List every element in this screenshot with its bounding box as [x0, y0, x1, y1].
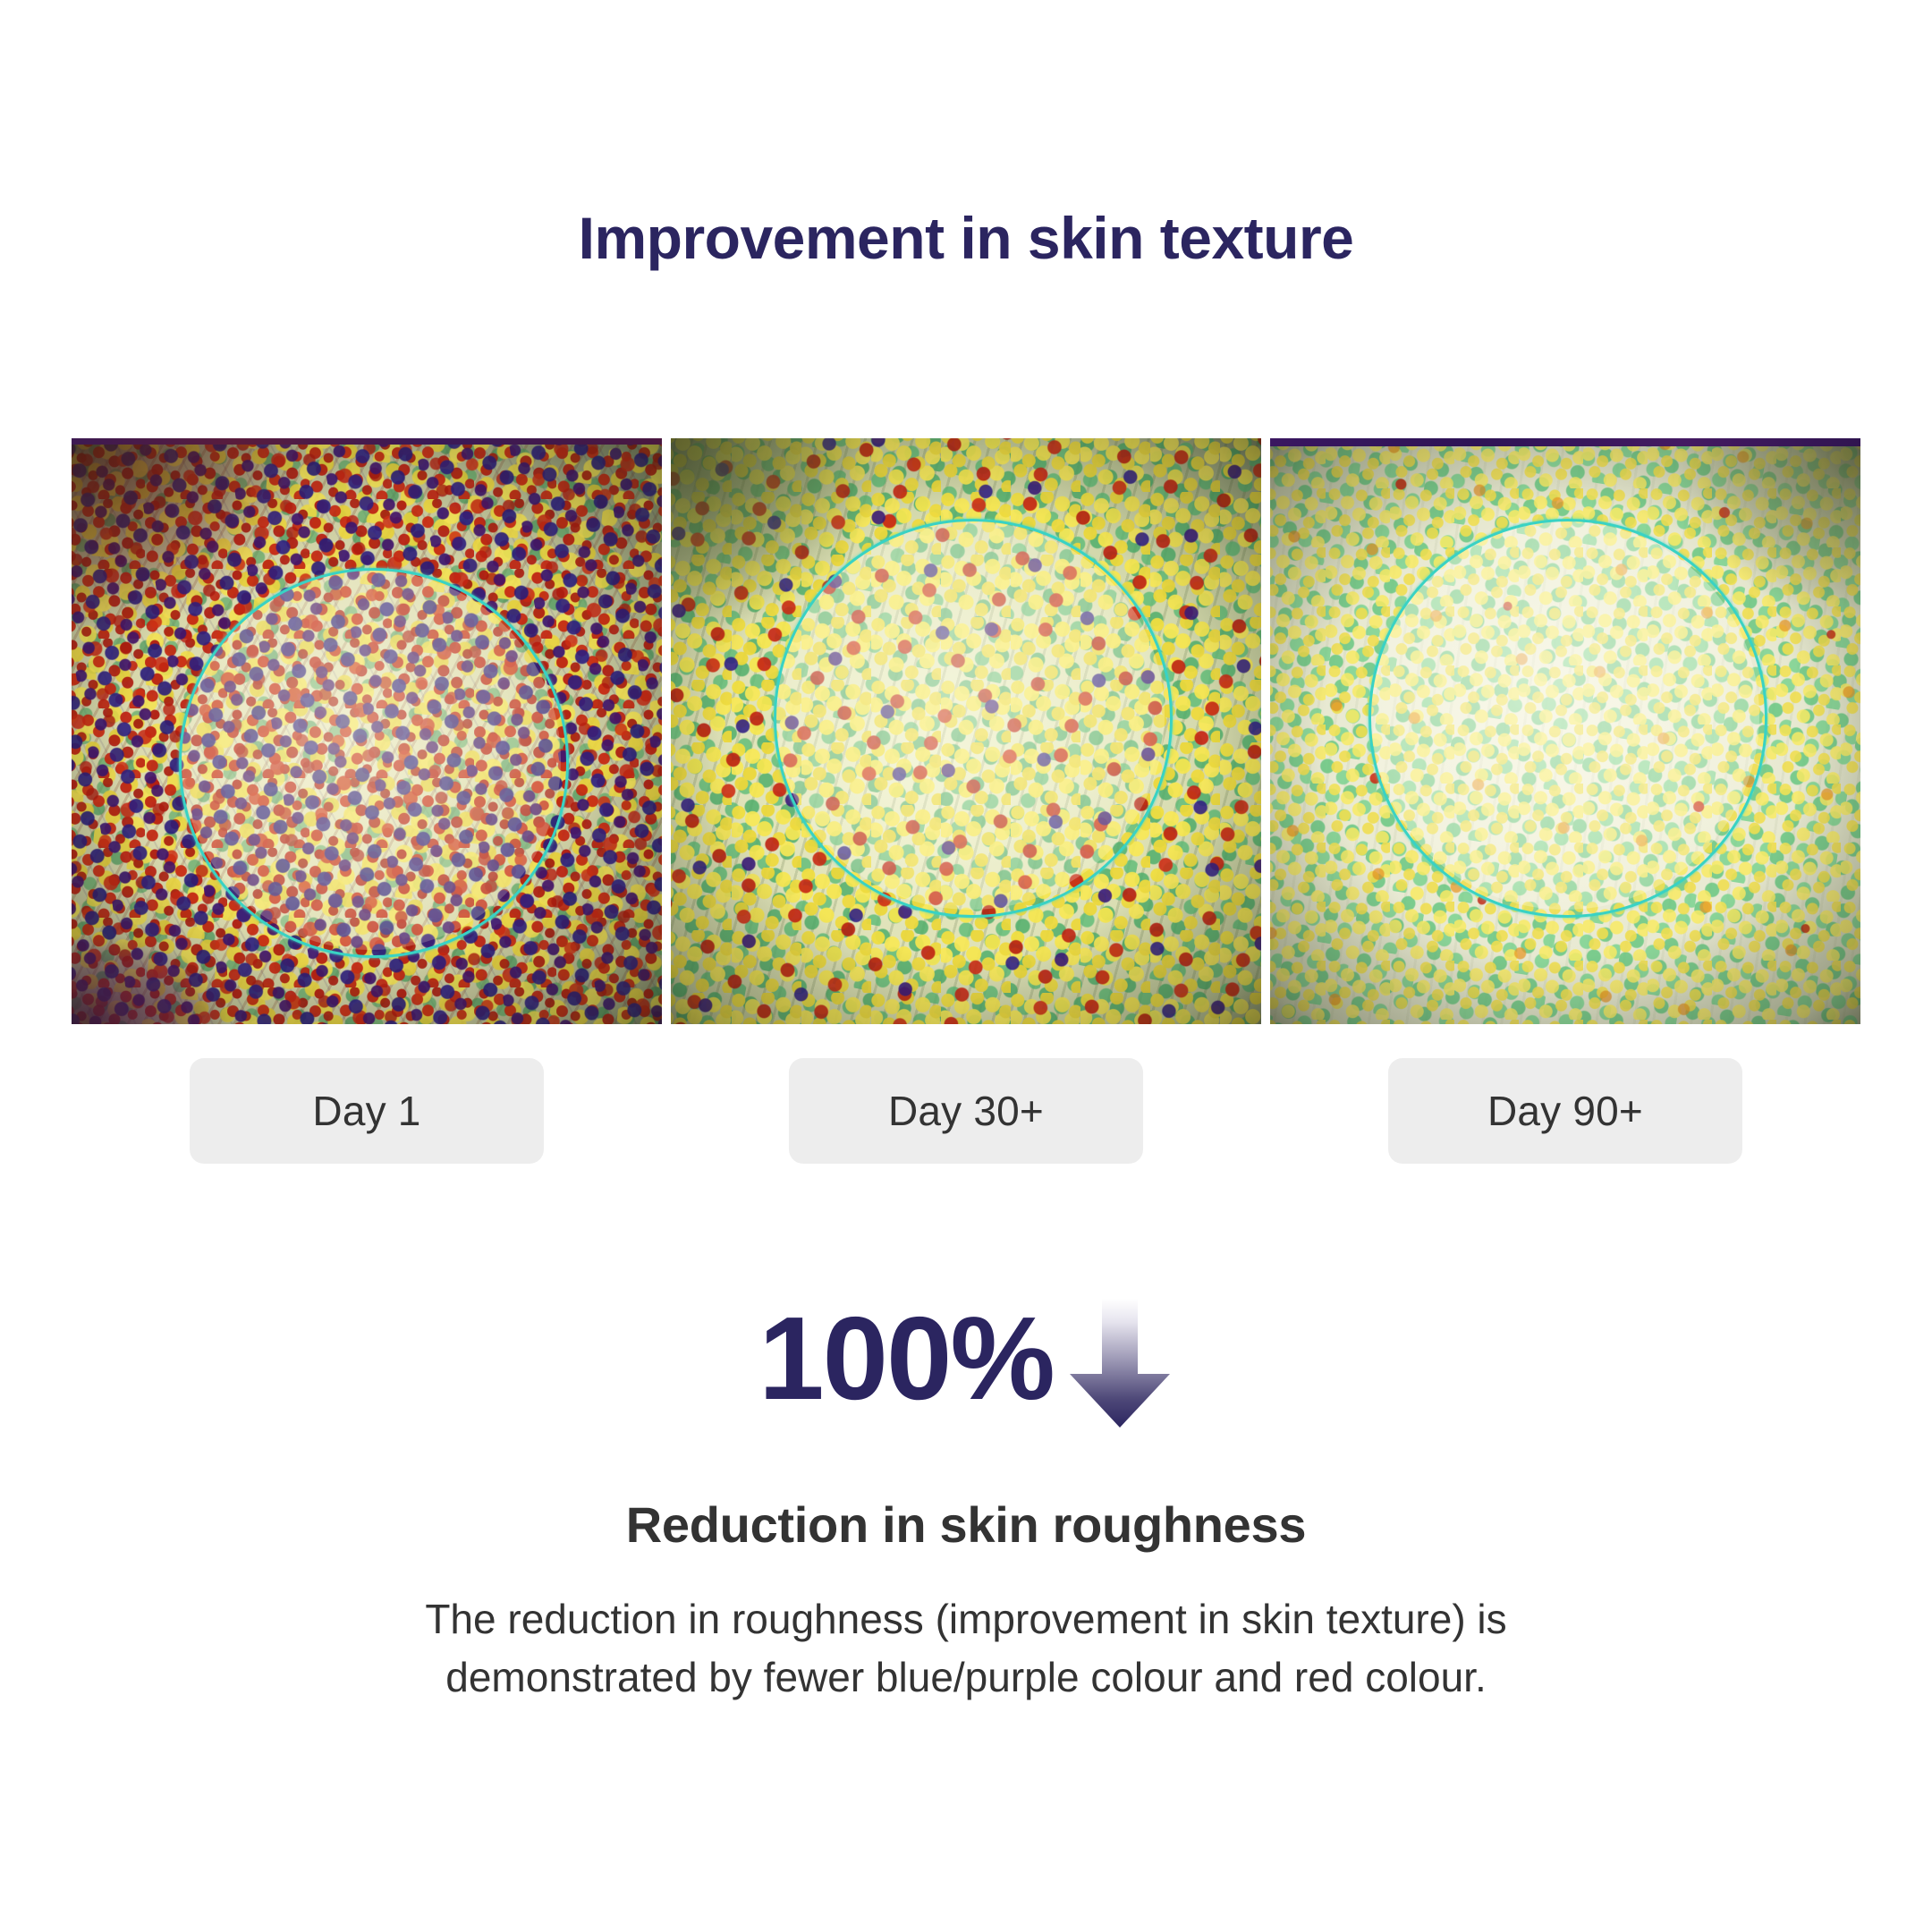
panel-top-band [72, 438, 662, 445]
timepoint-pill-day-90: Day 90+ [1388, 1058, 1742, 1164]
body-line-2: demonstrated by fewer blue/purple colour… [295, 1648, 1637, 1707]
timepoint-pill-day-30: Day 30+ [789, 1058, 1143, 1164]
panel-gallery [72, 438, 1860, 1024]
panel-day-1 [72, 438, 662, 1024]
skin-texture-image-day-90 [1270, 438, 1860, 1024]
timepoint-label-row: Day 1 Day 30+ Day 90+ [72, 1058, 1860, 1164]
arrow-down-icon [1066, 1297, 1174, 1431]
stat-heading: Reduction in skin roughness [0, 1496, 1932, 1554]
panel-day-90 [1270, 438, 1860, 1024]
stat-value: 100% [758, 1300, 1054, 1418]
timepoint-pill-day-1: Day 1 [190, 1058, 544, 1164]
body-paragraph: The reduction in roughness (improvement … [295, 1590, 1637, 1707]
stat-block: 100% [0, 1286, 1932, 1431]
infographic-root: Improvement in skin texture [0, 0, 1932, 1932]
measurement-circle-icon [1368, 519, 1767, 918]
timepoint-label-cell: Day 30+ [671, 1058, 1261, 1164]
timepoint-label-cell: Day 1 [72, 1058, 662, 1164]
skin-texture-image-day-30 [671, 438, 1261, 1024]
panel-day-30 [671, 438, 1261, 1024]
measurement-circle-icon [774, 519, 1173, 918]
measurement-circle-icon [179, 568, 569, 958]
page-title: Improvement in skin texture [0, 208, 1932, 269]
skin-texture-image-day-1 [72, 438, 662, 1024]
body-line-1: The reduction in roughness (improvement … [295, 1590, 1637, 1648]
timepoint-label-cell: Day 90+ [1270, 1058, 1860, 1164]
panel-top-band [1270, 438, 1860, 446]
